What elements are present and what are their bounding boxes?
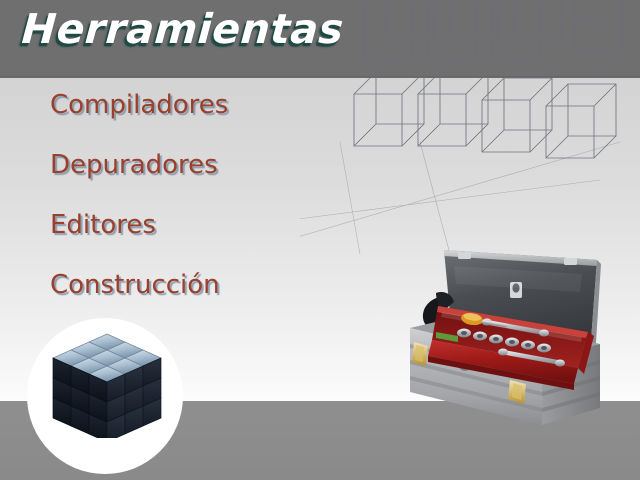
page-title: Herramientas: [20, 5, 345, 53]
presentation-slide: Herramientas Compiladores Depuradores Ed…: [0, 0, 640, 480]
bullet-list: Compiladores Depuradores Editores Constr…: [50, 92, 310, 298]
header-band-edge: [0, 76, 640, 78]
list-item: Construcción: [50, 272, 310, 298]
stacked-cube-illustration: [48, 330, 166, 438]
toolbox-latch: [412, 342, 428, 366]
list-item: Compiladores: [50, 92, 310, 118]
open-toolbox-photo: [392, 232, 607, 425]
list-item: Depuradores: [50, 152, 310, 178]
list-item: Editores: [50, 212, 310, 238]
